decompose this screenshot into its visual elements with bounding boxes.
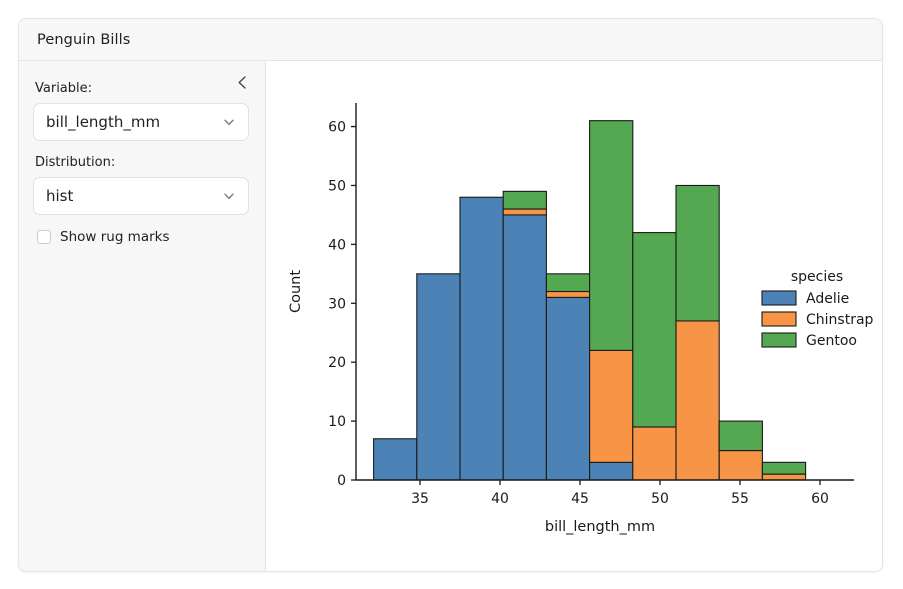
- x-tick-label-60: 60: [811, 491, 829, 507]
- bar-segment-adelie-2[interactable]: [460, 197, 503, 480]
- bar-segment-gentoo-8[interactable]: [719, 421, 762, 450]
- distribution-select[interactable]: hist: [33, 177, 249, 215]
- legend-label-chinstrap: Chinstrap: [806, 312, 874, 328]
- y-tick-label-40: 40: [328, 237, 346, 253]
- show-rug-marks-row[interactable]: Show rug marks: [37, 229, 249, 245]
- bar-segment-chinstrap-3[interactable]: [503, 209, 546, 215]
- page-title: Penguin Bills: [37, 32, 130, 48]
- bar-segment-gentoo-5[interactable]: [590, 121, 633, 351]
- legend-title: species: [791, 269, 843, 285]
- x-tick-label-55: 55: [731, 491, 749, 507]
- chevron-down-icon: [222, 115, 236, 129]
- show-rug-marks-checkbox[interactable]: [37, 230, 51, 244]
- y-tick-label-50: 50: [328, 178, 346, 194]
- y-axis-title: Count: [288, 270, 304, 313]
- y-tick-label-20: 20: [328, 355, 346, 371]
- variable-select-value: bill_length_mm: [46, 113, 222, 131]
- bar-segment-chinstrap-5[interactable]: [590, 350, 633, 462]
- card-header: Penguin Bills: [19, 19, 882, 61]
- chevron-left-icon[interactable]: [231, 71, 253, 93]
- bar-segment-adelie-4[interactable]: [546, 297, 589, 480]
- x-tick-label-35: 35: [411, 491, 429, 507]
- distribution-select-value: hist: [46, 187, 222, 205]
- bar-segment-gentoo-3[interactable]: [503, 191, 546, 209]
- y-tick-label-30: 30: [328, 296, 346, 312]
- legend-label-gentoo: Gentoo: [806, 333, 857, 349]
- variable-select[interactable]: bill_length_mm: [33, 103, 249, 141]
- bar-segment-adelie-1[interactable]: [417, 274, 460, 480]
- variable-label: Variable:: [35, 81, 249, 96]
- x-tick-label-40: 40: [491, 491, 509, 507]
- y-tick-label-10: 10: [328, 414, 346, 430]
- card-body: Variable: bill_length_mm Distribution: h…: [19, 61, 882, 572]
- bar-segment-adelie-0[interactable]: [374, 439, 417, 480]
- x-tick-label-50: 50: [651, 491, 669, 507]
- sidebar: Variable: bill_length_mm Distribution: h…: [19, 61, 266, 572]
- y-tick-label-60: 60: [328, 120, 346, 136]
- bar-segment-chinstrap-7[interactable]: [676, 321, 719, 480]
- bar-segment-gentoo-4[interactable]: [546, 274, 589, 292]
- legend-swatch-adelie: [762, 291, 796, 305]
- legend-swatch-chinstrap: [762, 312, 796, 326]
- show-rug-marks-label: Show rug marks: [60, 229, 170, 245]
- legend-label-adelie: Adelie: [806, 291, 849, 307]
- plot-pane: 0102030405060354045505560bill_length_mmC…: [266, 61, 882, 572]
- distribution-label: Distribution:: [35, 155, 249, 170]
- histogram-figure[interactable]: 0102030405060354045505560bill_length_mmC…: [266, 61, 882, 572]
- bar-segment-chinstrap-8[interactable]: [719, 451, 762, 480]
- bar-segment-chinstrap-4[interactable]: [546, 292, 589, 298]
- bar-segment-chinstrap-9[interactable]: [762, 474, 805, 480]
- bar-segment-gentoo-7[interactable]: [676, 185, 719, 320]
- bar-segment-gentoo-9[interactable]: [762, 462, 805, 474]
- x-tick-label-45: 45: [571, 491, 589, 507]
- legend-swatch-gentoo: [762, 333, 796, 347]
- bar-segment-adelie-3[interactable]: [503, 215, 546, 480]
- bar-segment-gentoo-6[interactable]: [633, 233, 676, 427]
- app-card: Penguin Bills Variable: bill_length_mm D…: [18, 18, 883, 572]
- x-axis-title: bill_length_mm: [545, 519, 655, 535]
- bar-segment-chinstrap-6[interactable]: [633, 427, 676, 480]
- y-tick-label-0: 0: [337, 473, 346, 489]
- chevron-down-icon: [222, 189, 236, 203]
- bar-segment-adelie-5[interactable]: [590, 462, 633, 480]
